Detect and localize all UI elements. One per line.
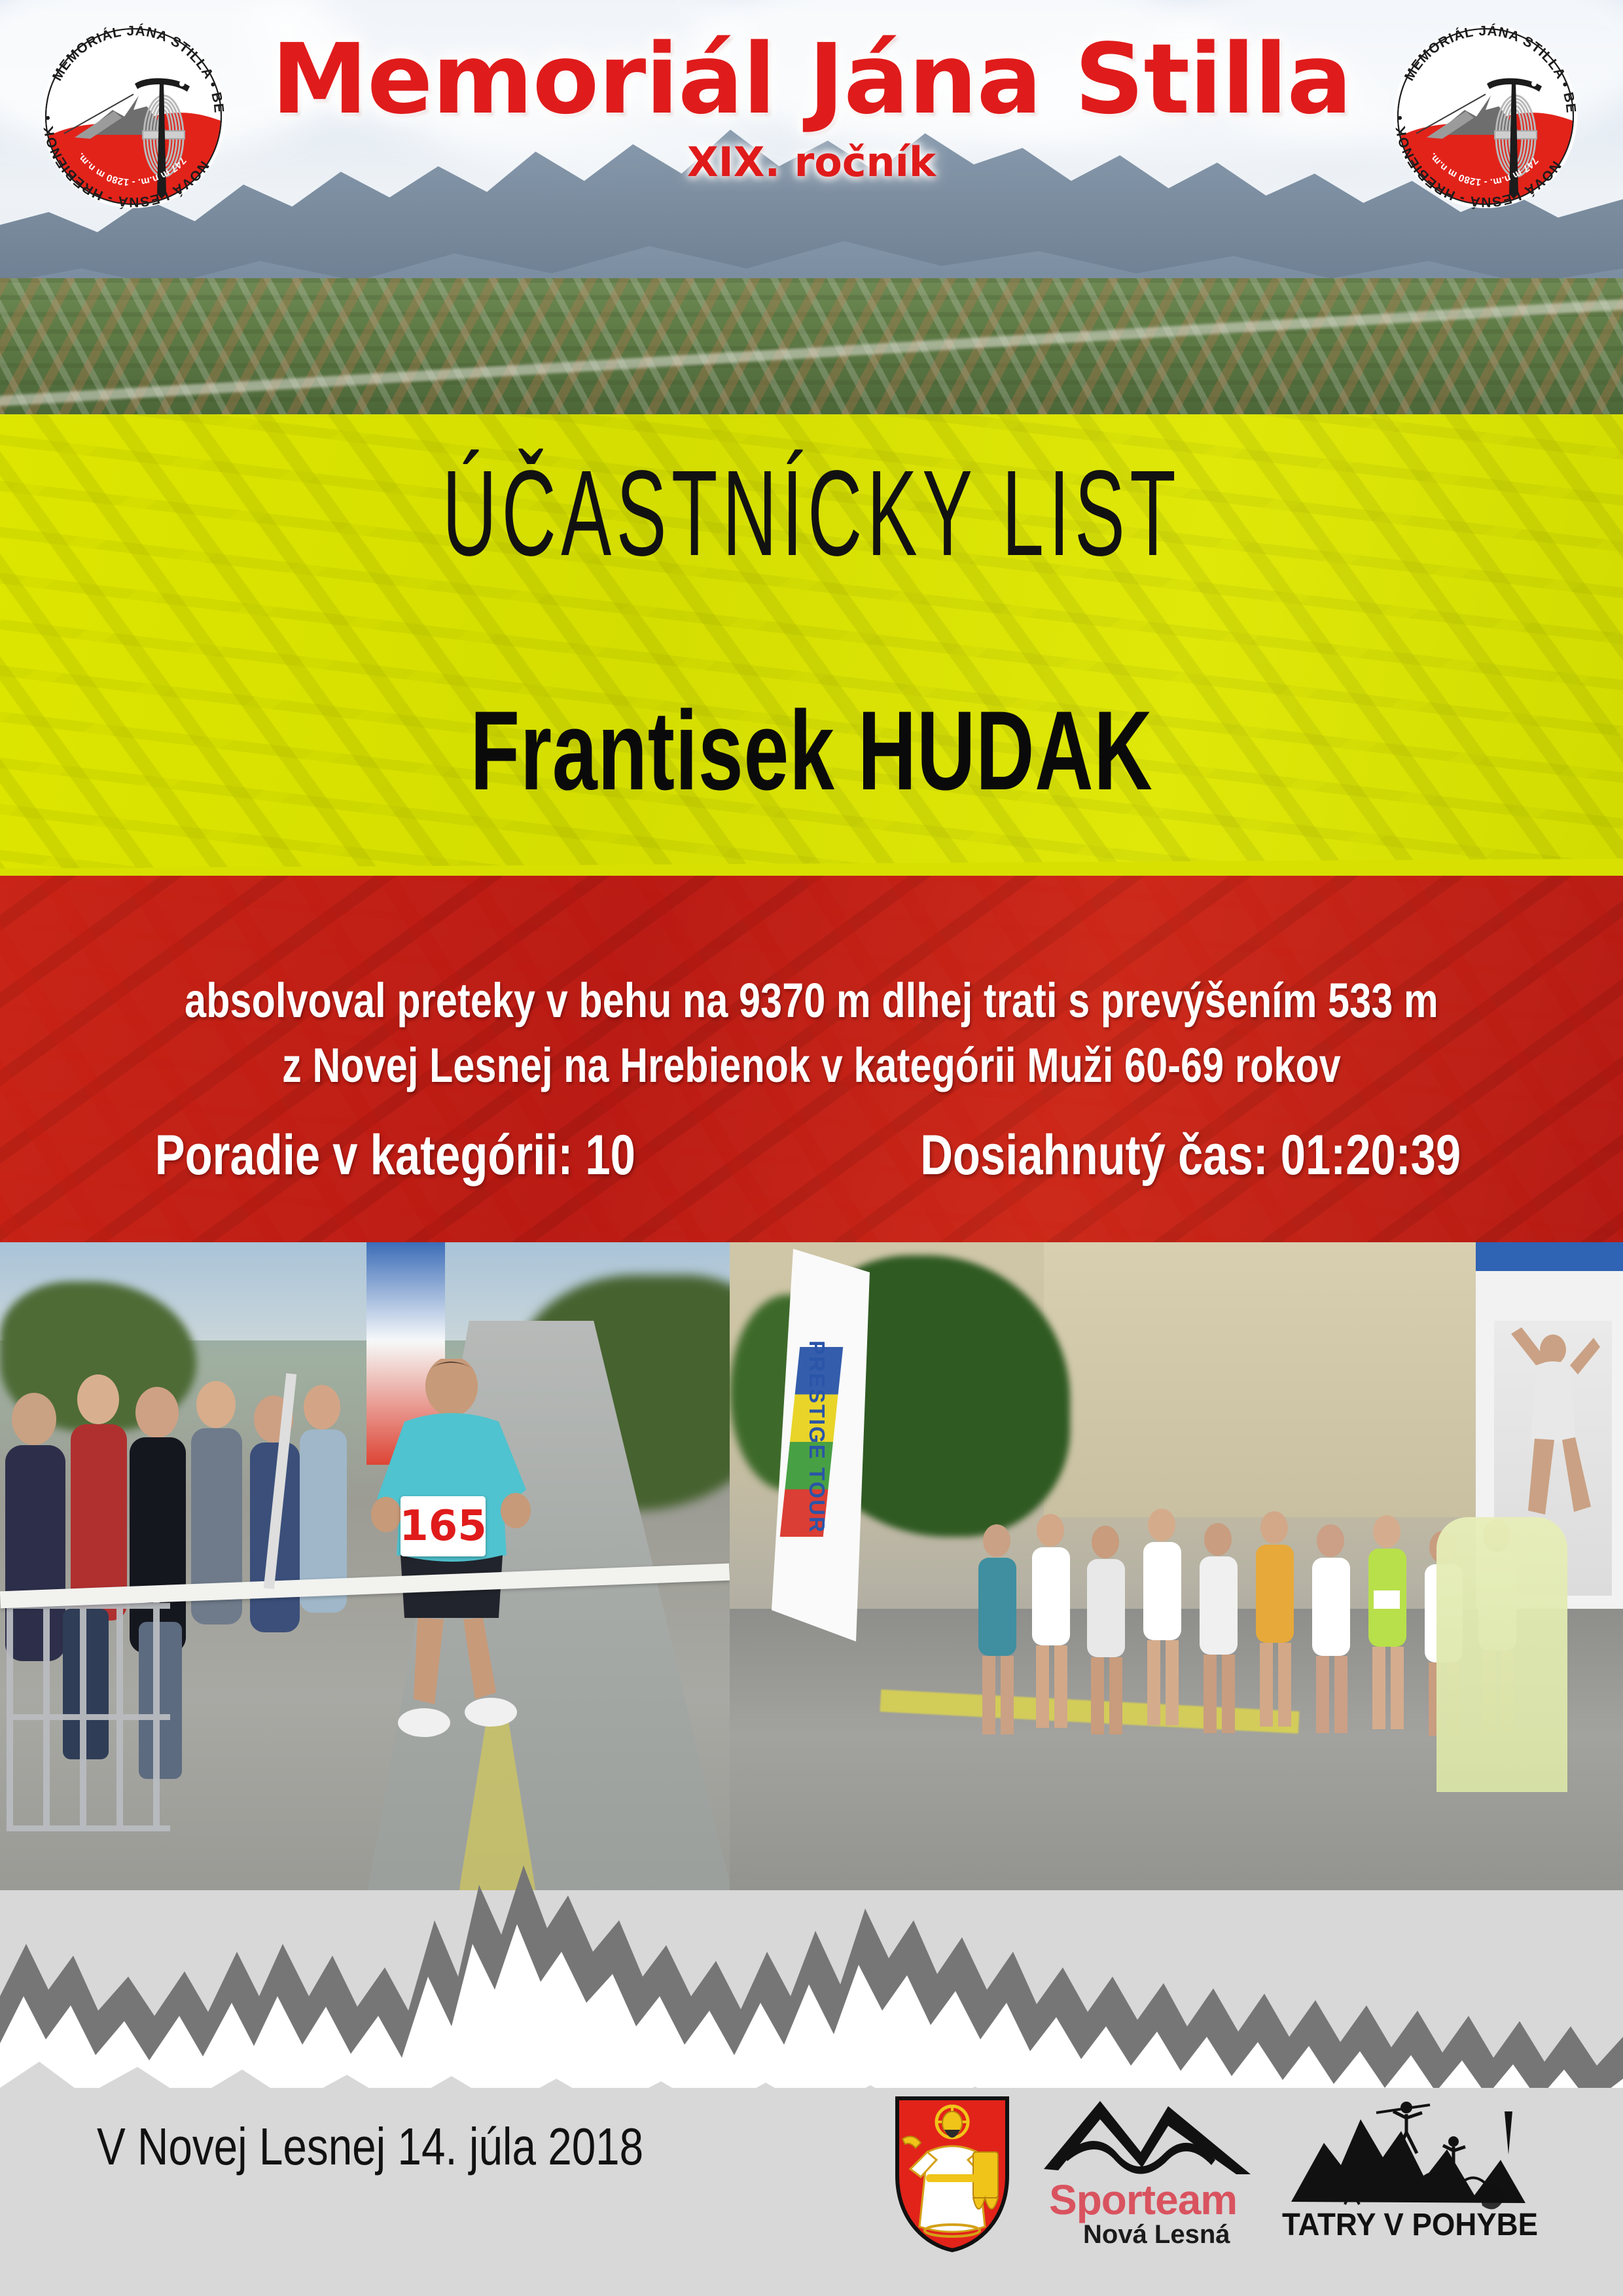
- finish-time: Dosiahnutý čas: 01:20:39: [920, 1123, 1461, 1188]
- photo-spectator-right: [1436, 1517, 1567, 1792]
- nova-lesna-coat-of-arms-icon: [887, 2092, 1018, 2255]
- photo-runner: [366, 1359, 537, 1771]
- category-rank: Poradie v kategórii: 10: [155, 1123, 635, 1188]
- result-summary-row: Poradie v kategórii: 10 Dosiahnutý čas: …: [0, 1123, 1623, 1188]
- event-title: Memoriál Jána Stilla: [0, 30, 1623, 129]
- place-and-date: V Novej Lesnej 14. júla 2018: [97, 2117, 643, 2177]
- photo-banner-text: PRESTIGE TOUR: [804, 1340, 829, 1534]
- event-emblem-right: MEMORIÁL JÁNA STILLA • BEH DO VRCHU • NO…: [1387, 18, 1584, 215]
- photo-strip: 165: [0, 1242, 1623, 1890]
- result-description-line-2: z Novej Lesnej na Hrebienok v kategórii …: [162, 1037, 1461, 1093]
- sporteam-logo: Sporteam Nová Lesná: [1040, 2092, 1256, 2255]
- photo-finish-line: 165: [0, 1242, 730, 1890]
- sporteam-wordmark: Sporteam: [1049, 2176, 1237, 2224]
- sponsor-logo-row: Sporteam Nová Lesná: [887, 2092, 1533, 2255]
- photo-crowd-barrier: [7, 1596, 170, 1831]
- certificate-page: Memoriál Jána Stilla XIX. ročník: [0, 0, 1623, 2296]
- result-description-line-1: absolvoval preteky v behu na 9370 m dlhe…: [162, 973, 1461, 1028]
- sporteam-sublabel: Nová Lesná: [1083, 2220, 1230, 2250]
- footer: V Novej Lesnej 14. júla 2018: [0, 2088, 1623, 2296]
- title-block: Memoriál Jána Stilla XIX. ročník: [0, 30, 1623, 186]
- mountain-peaks-icon: [1040, 2092, 1256, 2177]
- tatry-wordmark: TATRY V POHYBE: [1282, 2207, 1538, 2243]
- event-edition: XIX. ročník: [0, 138, 1623, 186]
- result-text-block: absolvoval preteky v behu na 9370 m dlhe…: [0, 876, 1623, 1188]
- event-emblem-left: MEMORIÁL JÁNA STILLA • BEH DO VRCHU • NO…: [35, 18, 232, 215]
- participant-name: Frantisek HUDAK: [227, 686, 1396, 816]
- runner-bib-number: 165: [401, 1496, 486, 1556]
- photo-mass-start: PRESTIGE TOUR: [730, 1242, 1623, 1890]
- document-type-title: ÚČASTNÍCKY LIST: [308, 444, 1315, 583]
- tatry-v-pohybe-logo: TATRY V POHYBE: [1278, 2092, 1533, 2255]
- mountain-climbers-icon: [1278, 2092, 1533, 2210]
